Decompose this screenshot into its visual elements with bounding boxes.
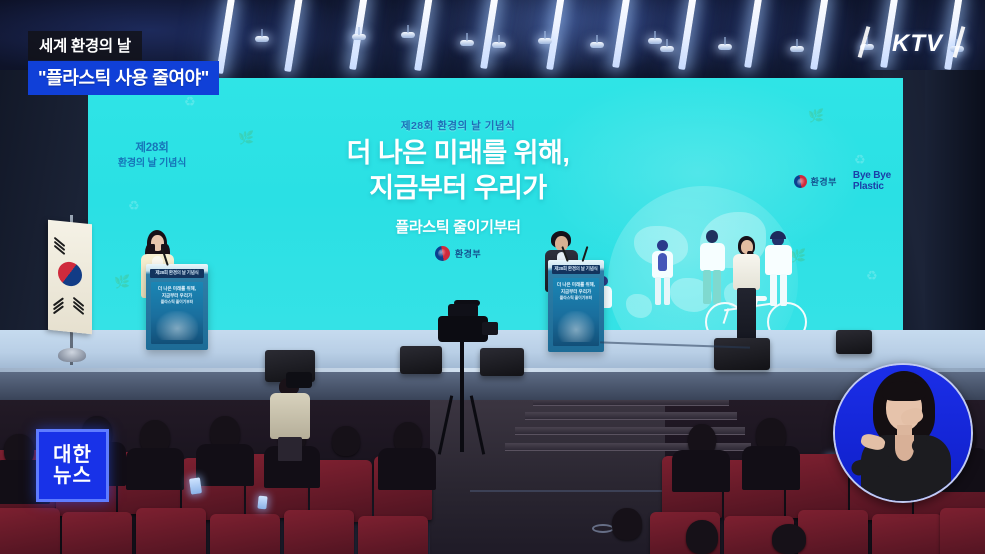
- aisle-floor-marker: [592, 524, 614, 533]
- ceiling-light-strip: [810, 0, 829, 70]
- audience-phone-screen: [257, 496, 267, 510]
- seat: [284, 510, 354, 554]
- podium-plate: 제28회 환경의 날 기념식: [552, 265, 600, 274]
- podium-poster: 더 나은 미래를 위해, 지금부터 우리가 플라스틱 줄이기부터: [151, 282, 203, 344]
- leaf-icon: 🌿: [114, 274, 130, 290]
- caption-block: 세계 환경의 날 "플라스틱 사용 줄여야": [28, 31, 219, 95]
- screen-headline: 제28회 환경의 날 기념식: [293, 118, 623, 133]
- podium-center: 제28회 환경의 날 기념식 더 나은 미래를 위해, 지금부터 우리가 플라스…: [548, 260, 604, 352]
- ceiling-spotlight: [660, 46, 674, 52]
- stage-monitor-speaker: [836, 330, 872, 354]
- ceiling-spotlight: [492, 42, 506, 48]
- audience-body: [196, 444, 254, 486]
- screen-title: 더 나은 미래를 위해, 지금부터 우리가: [273, 136, 643, 205]
- audience-body: [378, 448, 436, 490]
- screen-left-panel-line2: 환경의 날 기념식: [102, 157, 202, 172]
- podium-poster-graphic: [156, 311, 198, 340]
- channel-logo: KTV: [892, 30, 943, 58]
- screen-left-panel-line1: 제28회: [102, 140, 202, 157]
- byebye-line2: Plastic: [853, 181, 891, 192]
- sign-language-interpreter-overlay: [833, 363, 973, 503]
- camera-tripod: [460, 342, 464, 452]
- seat: [872, 514, 942, 554]
- stage-person-right: [730, 236, 764, 348]
- audience-head: [332, 426, 360, 456]
- ministry-logo-right: 환경부: [794, 175, 837, 188]
- seat: [210, 514, 280, 554]
- camera-body: [438, 316, 488, 342]
- leaf-icon: 🌿: [238, 130, 254, 146]
- broadcast-frame: ♻ 🌿 ♻ 🌿 ♻ 🌿 ♻ 🌿 제28회 환경의 날 기념식 제28회 환경의 …: [0, 0, 985, 554]
- screen-title-line2: 지금부터 우리가: [273, 171, 643, 206]
- taegeuk-icon: [53, 258, 86, 291]
- recycle-icon: ♻: [128, 198, 140, 214]
- podium-plate-text: 제28회 환경의 날 기념식: [552, 266, 600, 272]
- wall-right-panel: [925, 70, 985, 370]
- seat: [358, 516, 428, 554]
- seat: [136, 508, 206, 554]
- recycle-icon: ♻: [866, 268, 878, 284]
- podium-left: 제28회 환경의 날 기념식 더 나은 미래를 위해, 지금부터 우리가 플라스…: [146, 264, 208, 350]
- podium-poster-line1: 더 나은 미래를 위해,: [151, 286, 203, 293]
- audience-body: [672, 450, 730, 492]
- news-badge-line1: 대한: [53, 445, 92, 466]
- broadcast-camera: [432, 300, 500, 356]
- byebye-plastic-logo: Bye Bye Plastic: [853, 170, 891, 192]
- screen-ministry-logo: 환경부: [348, 246, 568, 261]
- ceiling-spotlight: [648, 38, 662, 44]
- ceiling-spotlight: [401, 32, 415, 38]
- taegeuk-icon: [435, 246, 450, 261]
- podium-poster-graphic: [558, 311, 595, 342]
- podium-poster-line3: 플라스틱 줄이기부터: [151, 300, 203, 306]
- audience-body: [742, 446, 800, 490]
- news-badge-line2: 뉴스: [53, 466, 92, 487]
- ceiling-spotlight: [718, 44, 732, 50]
- podium-poster: 더 나은 미래를 위해, 지금부터 우리가 플라스틱 줄이기부터: [553, 278, 599, 346]
- seat: [798, 510, 868, 554]
- byebye-line1: Bye Bye: [853, 170, 891, 181]
- screen-title-line1: 더 나은 미래를 위해,: [273, 136, 643, 171]
- ceiling-light-strip: [284, 0, 303, 72]
- podium-poster-line2: 지금부터 우리가: [553, 289, 599, 296]
- seat: [62, 512, 132, 554]
- ceiling-spotlight: [790, 46, 804, 52]
- screen-right-logos: 환경부 Bye Bye Plastic: [794, 170, 891, 192]
- screen-ministry-label: 환경부: [455, 247, 481, 260]
- podium-plate-text: 제28회 환경의 날 기념식: [150, 270, 204, 276]
- caption-line-1: 세계 환경의 날: [28, 31, 142, 60]
- ceiling-spotlight: [538, 38, 552, 44]
- audience-head: [772, 524, 806, 554]
- audience-head: [686, 520, 718, 554]
- ceiling-spotlight: [352, 34, 366, 40]
- podium-plate: 제28회 환경의 날 기념식: [150, 269, 204, 278]
- taegeuk-icon: [794, 175, 807, 188]
- news-program-badge: 대한 뉴스: [36, 429, 109, 502]
- ministry-label-right: 환경부: [811, 175, 837, 188]
- camera-operator: [268, 378, 312, 458]
- handheld-camera: [286, 372, 312, 388]
- ceiling-spotlight: [590, 42, 604, 48]
- recycle-icon: ♻: [854, 152, 866, 168]
- stage-monitor-speaker: [714, 338, 770, 370]
- audience-phone-screen: [189, 477, 202, 494]
- ceiling-spotlight: [255, 36, 269, 42]
- seat: [940, 508, 985, 554]
- podium-poster-line3: 플라스틱 줄이기부터: [553, 296, 599, 302]
- flag-base: [58, 348, 86, 362]
- camera-lens: [482, 322, 498, 335]
- audience-head: [612, 508, 642, 540]
- step: [533, 400, 729, 406]
- interpreter-fringe: [882, 381, 926, 401]
- podium-poster-line1: 더 나은 미래를 위해,: [553, 282, 599, 289]
- podium-poster-line2: 지금부터 우리가: [151, 293, 203, 300]
- seat: [0, 508, 60, 554]
- aisle-steps: [505, 400, 755, 450]
- caption-line-2: "플라스틱 사용 줄여야": [28, 61, 219, 95]
- ceiling-spotlight: [460, 40, 474, 46]
- leaf-icon: 🌿: [808, 108, 824, 124]
- audience-body: [126, 448, 184, 490]
- step: [525, 412, 737, 420]
- ceiling-light-strip: [744, 0, 763, 68]
- aisle-floor-line: [470, 490, 680, 492]
- korean-flag: [48, 220, 92, 335]
- recycle-icon: ♻: [184, 94, 196, 110]
- screen-left-panel-title: 제28회 환경의 날 기념식: [102, 140, 202, 171]
